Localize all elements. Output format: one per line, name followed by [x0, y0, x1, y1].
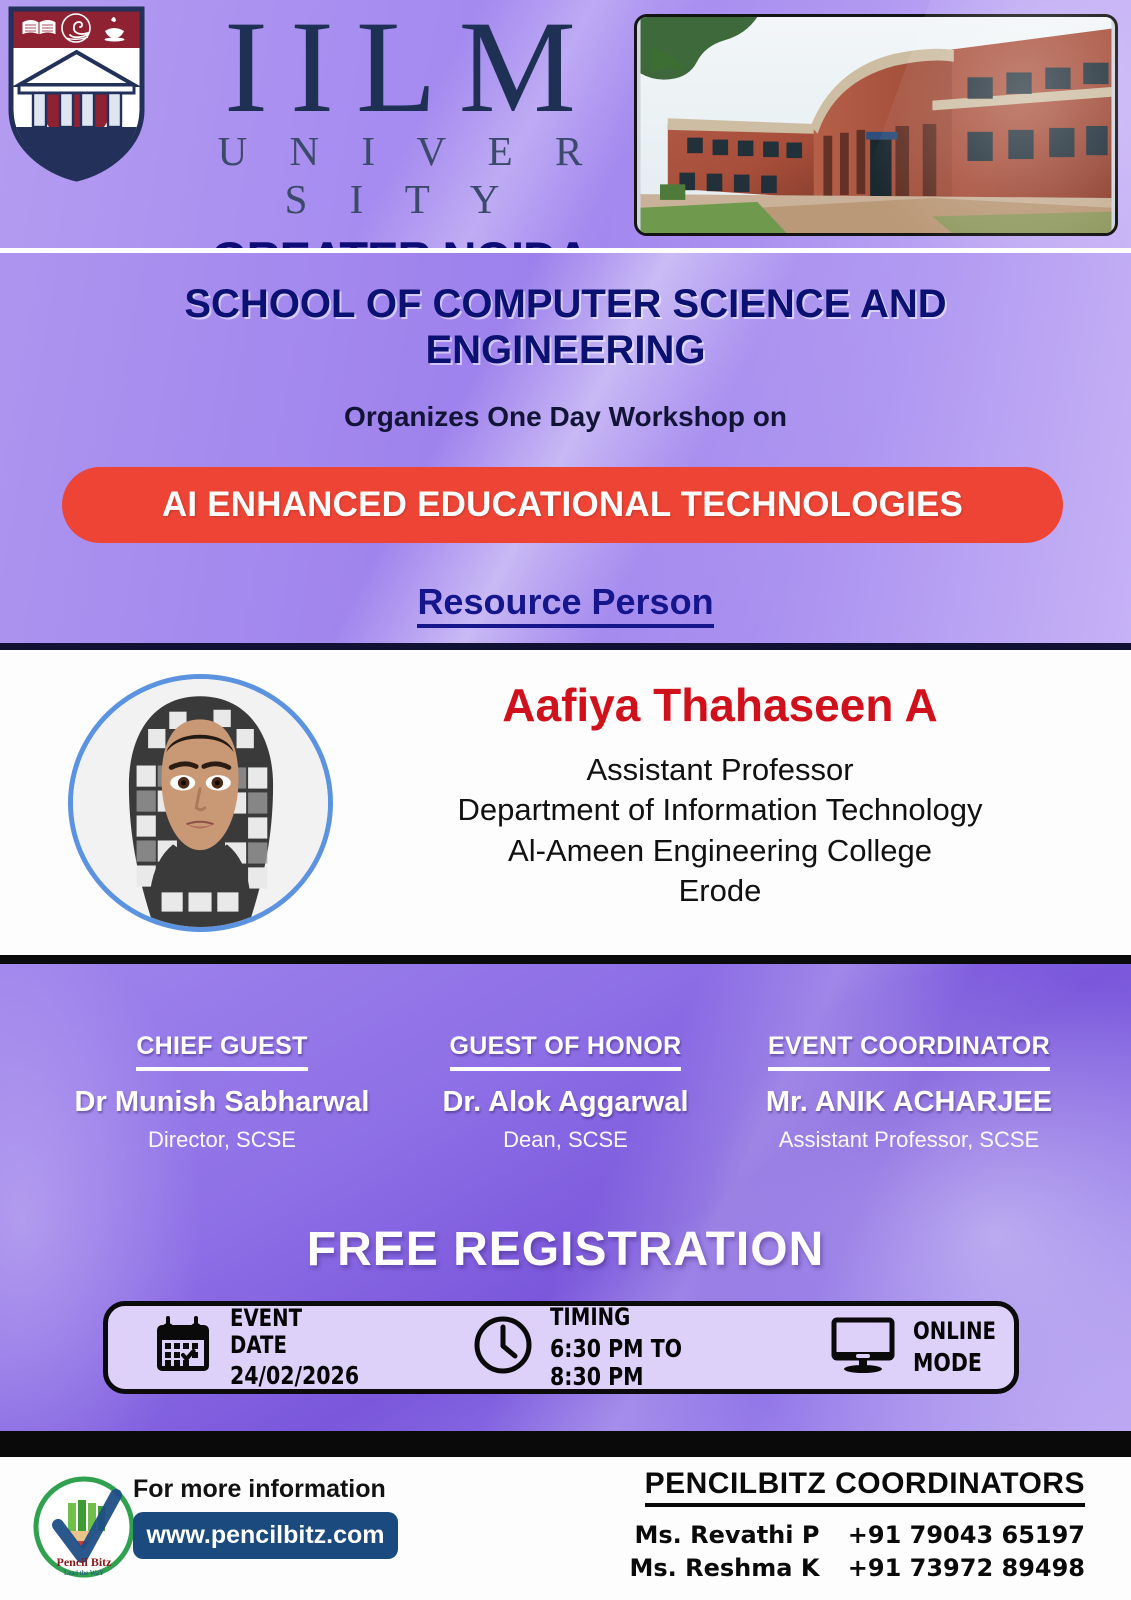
- guest-chief: CHIEF GUEST Dr Munish Sabharwal Director…: [62, 1032, 382, 1153]
- event-poster: IILM U N I V E R S I T Y GREATER NOIDA: [0, 0, 1131, 1600]
- poster-header: IILM U N I V E R S I T Y GREATER NOIDA: [0, 0, 1131, 252]
- coordinator-name: Ms. Revathi P: [634, 1521, 819, 1549]
- coordinators-heading: PENCILBITZ COORDINATORS: [645, 1467, 1085, 1507]
- guest-name: Dr Munish Sabharwal: [62, 1086, 382, 1119]
- calendar-icon: [152, 1314, 214, 1381]
- guest-designation: Director, SCSE: [62, 1127, 382, 1153]
- coordinator-phone[interactable]: +91 73972 89498: [848, 1554, 1085, 1582]
- iilm-text: IILM: [175, 4, 625, 131]
- organizes-text: Organizes One Day Workshop on: [90, 401, 1041, 433]
- free-registration-text: FREE REGISTRATION: [0, 1222, 1131, 1277]
- monitor-icon: [829, 1316, 897, 1379]
- section-divider-mid: [0, 955, 1131, 964]
- poster-info-band: SCHOOL OF COMPUTER SCIENCE AND ENGINEERI…: [0, 253, 1131, 648]
- speaker-name: Aafiya Thahaseen A: [355, 678, 1085, 732]
- workshop-topic-banner: AI ENHANCED EDUCATIONAL TECHNOLOGIES: [62, 467, 1063, 543]
- poster-footer: Pencil Bitz Lead the WaY For more inform…: [0, 1457, 1131, 1600]
- section-divider-top: [0, 643, 1131, 650]
- event-mode-value: MODE: [913, 1349, 996, 1377]
- pencilbitz-tagline-text: Lead the WaY: [64, 1569, 104, 1577]
- coordinator-row: Ms. Reshma K +91 73972 89498: [629, 1554, 1085, 1582]
- website-url: www.pencilbitz.com: [147, 1521, 385, 1550]
- speaker-city: Erode: [355, 871, 1085, 911]
- event-date-label: EVENT DATE: [230, 1305, 359, 1359]
- poster-details-band: CHIEF GUEST Dr Munish Sabharwal Director…: [0, 964, 1131, 1431]
- guest-honor: GUEST OF HONOR Dr. Alok Aggarwal Dean, S…: [406, 1032, 726, 1153]
- guest-role-label: GUEST OF HONOR: [450, 1032, 682, 1071]
- event-time-item: TIMING 6:30 PM TO 8:30 PM: [472, 1304, 742, 1391]
- event-date-value: 24/02/2026: [230, 1362, 359, 1390]
- speaker-department: Department of Information Technology: [355, 790, 1085, 830]
- university-wordmark: IILM U N I V E R S I T Y GREATER NOIDA: [175, 4, 625, 252]
- open-book-icon: [22, 20, 56, 36]
- speaker-title: Assistant Professor: [355, 750, 1085, 790]
- speaker-section: Aafiya Thahaseen A Assistant Professor D…: [0, 650, 1131, 955]
- event-mode-label: ONLINE: [913, 1318, 996, 1345]
- workshop-topic-text: AI ENHANCED EDUCATIONAL TECHNOLOGIES: [162, 485, 963, 525]
- guest-role-label: CHIEF GUEST: [136, 1032, 307, 1071]
- header-divider: [0, 248, 1131, 252]
- iilm-crest-logo: [8, 6, 145, 182]
- clock-icon: [472, 1314, 534, 1381]
- university-text: U N I V E R S I T Y: [175, 127, 625, 223]
- website-link-button[interactable]: www.pencilbitz.com: [133, 1512, 398, 1559]
- event-mode-item: ONLINE MODE: [829, 1316, 1014, 1379]
- guest-list: CHIEF GUEST Dr Munish Sabharwal Director…: [0, 1032, 1131, 1153]
- event-time-label: TIMING: [550, 1304, 708, 1331]
- resource-person-heading: Resource Person: [90, 581, 1041, 623]
- guest-designation: Dean, SCSE: [406, 1127, 726, 1153]
- speaker-details: Aafiya Thahaseen A Assistant Professor D…: [355, 678, 1085, 911]
- guest-role-label: EVENT COORDINATOR: [768, 1032, 1050, 1071]
- guest-designation: Assistant Professor, SCSE: [749, 1127, 1069, 1153]
- speaker-avatar: [68, 674, 333, 932]
- guest-name: Dr. Alok Aggarwal: [406, 1086, 726, 1119]
- coordinator-name: Ms. Reshma K: [629, 1554, 819, 1582]
- school-title: SCHOOL OF COMPUTER SCIENCE AND ENGINEERI…: [90, 281, 1041, 373]
- event-time-value: 6:30 PM TO 8:30 PM: [550, 1335, 708, 1391]
- guest-coordinator: EVENT COORDINATOR Mr. ANIK ACHARJEE Assi…: [749, 1032, 1069, 1153]
- more-info-label: For more information: [133, 1475, 386, 1504]
- coordinator-row: Ms. Revathi P +91 79043 65197: [629, 1521, 1085, 1549]
- pencilbitz-logo: Pencil Bitz Lead the WaY: [30, 1473, 138, 1581]
- guest-name: Mr. ANIK ACHARJEE: [749, 1086, 1069, 1119]
- coordinator-phone[interactable]: +91 79043 65197: [848, 1521, 1085, 1549]
- event-details-box: EVENT DATE 24/02/2026 TIMING 6:30 PM TO …: [103, 1301, 1019, 1394]
- pencilbitz-brand-text: Pencil Bitz: [57, 1555, 113, 1569]
- coordinators-list: Ms. Revathi P +91 79043 65197 Ms. Reshma…: [629, 1521, 1085, 1587]
- speaker-institution: Al-Ameen Engineering College: [355, 831, 1085, 871]
- section-divider-bottom: [0, 1431, 1131, 1457]
- campus-building-photo: [634, 14, 1118, 236]
- event-date-item: EVENT DATE 24/02/2026: [152, 1305, 387, 1391]
